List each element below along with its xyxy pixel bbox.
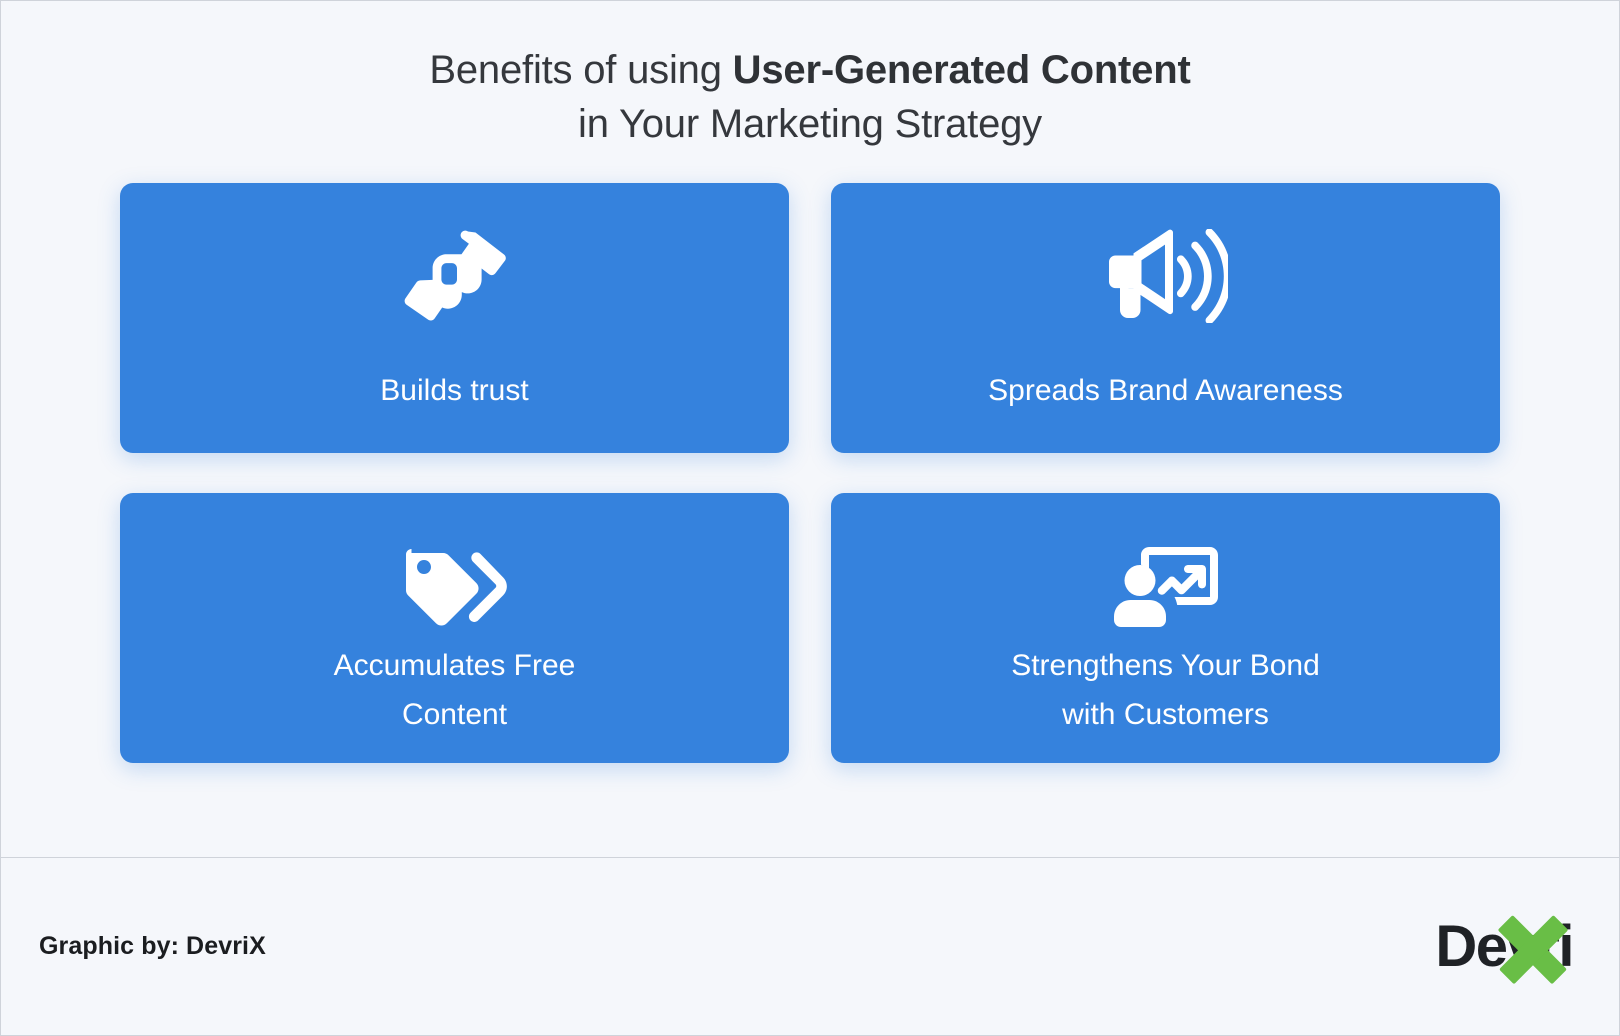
megaphone-icon: [1104, 221, 1228, 331]
credit-text: Graphic by: DevriX: [39, 932, 266, 961]
tags-icon: [402, 531, 508, 641]
footer: Graphic by: DevriX Devri: [1, 857, 1619, 1035]
benefits-grid: Builds trust Spreads Brand Awareness: [120, 183, 1500, 763]
page-title: Benefits of using User-Generated Content…: [1, 1, 1619, 161]
infographic-canvas: Benefits of using User-Generated Content…: [0, 0, 1620, 1036]
devrix-logo[interactable]: Devri: [1435, 907, 1581, 987]
title-prefix: Benefits of using: [429, 48, 732, 92]
benefit-card-builds-trust[interactable]: Builds trust: [120, 183, 789, 453]
chart-user-icon: [1114, 531, 1218, 641]
benefit-card-label: Strengthens Your Bond with Customers: [1011, 641, 1320, 743]
title-line-1: Benefits of using User-Generated Content: [1, 43, 1619, 97]
benefit-card-strengthens-your-bond[interactable]: Strengthens Your Bond with Customers: [831, 493, 1500, 763]
title-line-2: in Your Marketing Strategy: [1, 97, 1619, 151]
title-highlight: User-Generated Content: [733, 48, 1191, 92]
benefit-card-accumulates-free-content[interactable]: Accumulates Free Content: [120, 493, 789, 763]
benefit-card-label: Accumulates Free Content: [334, 641, 576, 743]
benefit-card-label: Spreads Brand Awareness: [988, 366, 1343, 419]
logo-wordmark: Devri: [1435, 918, 1573, 976]
benefit-card-label: Builds trust: [380, 366, 528, 419]
handshake-icon: [403, 221, 507, 331]
benefit-card-spreads-brand-awareness[interactable]: Spreads Brand Awareness: [831, 183, 1500, 453]
benefits-grid-wrapper: Builds trust Spreads Brand Awareness: [1, 161, 1619, 857]
